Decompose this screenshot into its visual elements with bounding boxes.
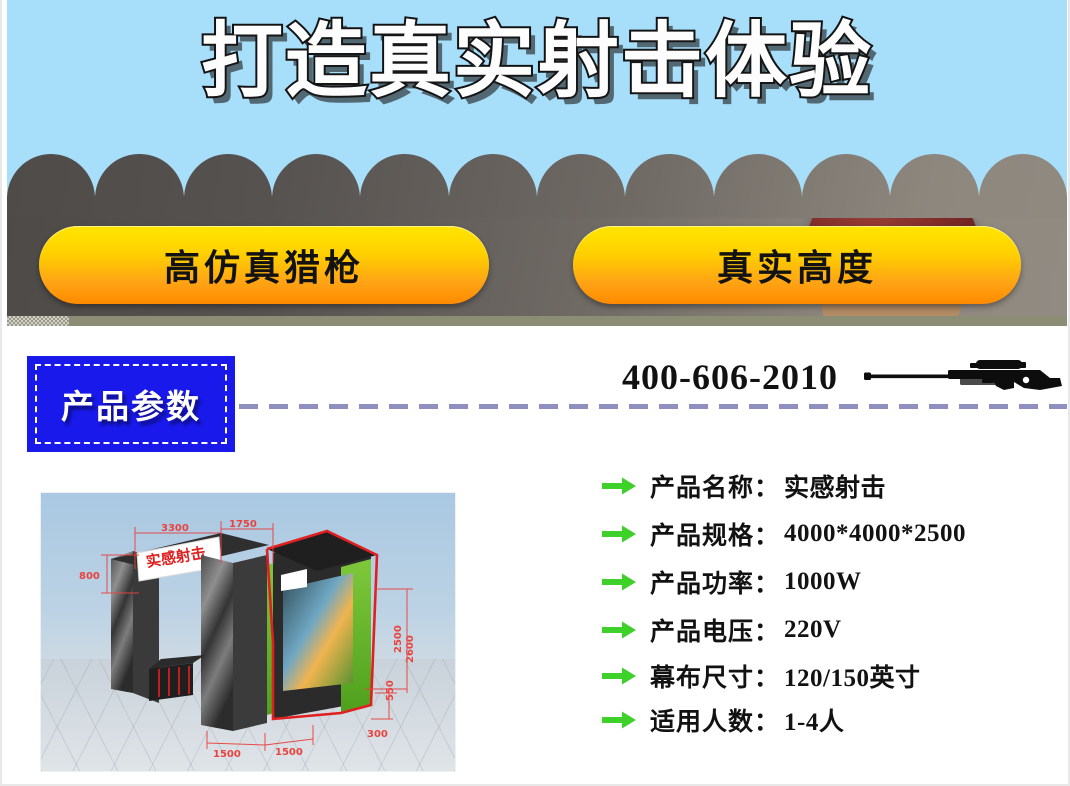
spec-list: 产品名称： 实感射击 产品规格： 4000*4000*2500 产品功率： 10… (602, 462, 1042, 742)
svg-text:3300: 3300 (161, 523, 189, 534)
spec-value: 220V (784, 616, 842, 644)
product-params-label: 产品参数 (61, 380, 201, 428)
green-arrow-icon (602, 711, 636, 729)
spec-key: 幕布尺寸： (650, 658, 780, 694)
feature-pill-label: 高仿真猎枪 (164, 239, 364, 291)
promo-page: 打造真实射击体验 高仿真猎枪 真实高度 产品参数 400-606-2010 (0, 0, 1070, 786)
spec-value: 1000W (784, 568, 862, 596)
spec-row: 产品电压： 220V (602, 606, 1042, 654)
spec-key: 产品电压： (650, 612, 780, 648)
sniper-rifle-icon (864, 356, 1064, 400)
hotline-number: 400-606-2010 (622, 356, 838, 398)
feature-pill-hunting-rifle[interactable]: 高仿真猎枪 (39, 226, 489, 304)
spec-key: 产品功率： (650, 564, 780, 600)
svg-text:1500: 1500 (213, 749, 241, 760)
spec-key: 产品规格： (650, 516, 780, 552)
spec-key: 适用人数： (650, 702, 780, 738)
spec-row: 幕布尺寸： 120/150英寸 (602, 654, 1042, 698)
svg-text:2600: 2600 (405, 635, 416, 663)
spec-row: 产品名称： 实感射击 (602, 462, 1042, 510)
spec-row: 产品功率： 1000W (602, 558, 1042, 606)
feature-pill-real-height[interactable]: 真实高度 (573, 226, 1021, 304)
svg-text:550: 550 (385, 680, 396, 701)
green-arrow-icon (602, 573, 636, 591)
spec-value: 实感射击 (784, 468, 886, 504)
feature-pill-label: 真实高度 (717, 239, 877, 291)
spec-row: 产品规格： 4000*4000*2500 (602, 510, 1042, 558)
product-render-image: 实感射击 (40, 492, 456, 772)
banner-bottom-strip (7, 316, 1067, 326)
spec-value: 120/150英寸 (784, 658, 920, 694)
spec-value: 1-4人 (784, 702, 844, 738)
green-arrow-icon (602, 621, 636, 639)
product-params-badge: 产品参数 (27, 356, 235, 452)
green-arrow-icon (602, 667, 636, 685)
svg-text:800: 800 (79, 571, 100, 582)
spec-row: 适用人数： 1-4人 (602, 698, 1042, 742)
green-arrow-icon (602, 477, 636, 495)
svg-text:300: 300 (367, 729, 388, 740)
dashed-divider (239, 404, 1067, 409)
svg-text:2500: 2500 (393, 625, 404, 653)
hero-banner: 打造真实射击体验 高仿真猎枪 真实高度 (7, 0, 1067, 326)
banner-corner-chip (7, 316, 69, 326)
svg-text:1750: 1750 (229, 519, 257, 530)
banner-title: 打造真实射击体验 (7, 16, 1067, 108)
svg-text:1500: 1500 (275, 747, 303, 758)
spec-key: 产品名称： (650, 468, 780, 504)
green-arrow-icon (602, 525, 636, 543)
spec-value: 4000*4000*2500 (784, 520, 966, 548)
